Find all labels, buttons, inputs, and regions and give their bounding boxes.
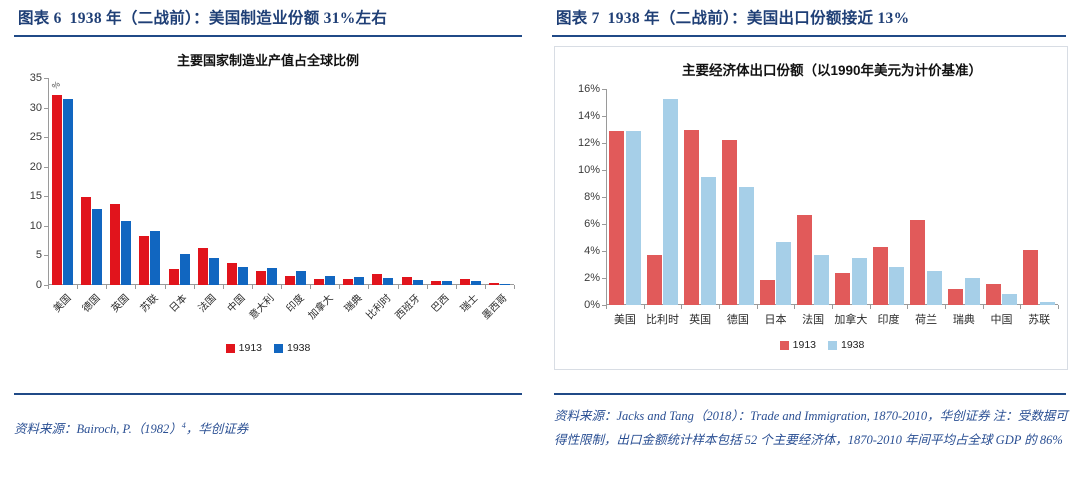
bar-1938 [663, 99, 678, 305]
bar-group [948, 89, 980, 305]
y-tick-mark [602, 116, 606, 117]
bar-1938 [1002, 294, 1017, 305]
bar-1913 [609, 131, 624, 305]
footnote-left-prefix: 资料来源：Bairoch, P.（1982） [14, 422, 182, 436]
bar-1938 [209, 258, 219, 285]
bar-1938 [500, 284, 510, 285]
legend-item-1938: 1938 [274, 342, 310, 354]
legend-swatch-1938 [828, 341, 837, 350]
bar-1913 [169, 269, 179, 285]
bar-group [722, 89, 754, 305]
bar-1913 [948, 289, 963, 305]
bar-1938 [442, 281, 452, 285]
legend-label-1913: 1913 [239, 342, 262, 354]
y-tick-mark [44, 78, 48, 79]
y-tick-mark [44, 196, 48, 197]
bar-1938 [383, 278, 393, 285]
bar-group [684, 89, 716, 305]
bar-1913 [227, 263, 237, 285]
bar-1913 [835, 273, 850, 305]
y-axis-line [606, 89, 607, 305]
bar-1913 [460, 279, 470, 285]
bar-1938 [325, 276, 335, 285]
exhibit-page: 图表61938 年（二战前）：美国制造业份额 31%左右 主要国家制造业产值占全… [0, 0, 1080, 496]
exhibit-6-number: 6 [54, 10, 62, 27]
bar-group [460, 78, 481, 285]
bar-group [343, 78, 364, 285]
legend-swatch-1913 [226, 344, 235, 353]
bar-1913 [52, 95, 62, 285]
bar-1913 [647, 255, 662, 305]
bar-1938 [471, 281, 481, 285]
y-tick-mark [602, 251, 606, 252]
x-tick-mark [514, 285, 515, 289]
y-tick-label: 2% [566, 272, 600, 284]
legend-label-1938: 1938 [287, 342, 310, 354]
bar-group [489, 78, 510, 285]
y-tick-label: 12% [566, 137, 600, 149]
bar-1913 [256, 271, 266, 285]
y-tick-label: 15 [22, 190, 42, 202]
bar-1913 [489, 283, 499, 285]
x-axis-label: 苏联 [1009, 311, 1069, 327]
bar-1938 [739, 187, 754, 305]
legend-item-1913: 1913 [780, 339, 816, 351]
panel-exhibit-6: 图表61938 年（二战前）：美国制造业份额 31%左右 主要国家制造业产值占全… [0, 0, 540, 496]
exhibit-6-title: 1938 年（二战前）：美国制造业份额 31%左右 [70, 10, 388, 27]
bar-group [81, 78, 102, 285]
exhibit-7-heading: 图表71938 年（二战前）：美国出口份额接近 13% [552, 0, 1066, 37]
y-tick-label: 6% [566, 218, 600, 230]
bar-1938 [92, 209, 102, 285]
y-tick-label: 4% [566, 245, 600, 257]
bar-1938 [965, 278, 980, 305]
y-tick-mark [44, 167, 48, 168]
bar-group [198, 78, 219, 285]
bar-1938 [814, 255, 829, 305]
bar-1913 [1023, 250, 1038, 305]
exhibit-7-number: 7 [592, 10, 600, 27]
bar-1938 [267, 268, 277, 285]
bar-1938 [701, 177, 716, 305]
bar-1913 [910, 220, 925, 305]
bar-1938 [238, 267, 248, 285]
bar-1913 [760, 280, 775, 305]
exhibit-7-label: 图表 [556, 10, 588, 27]
y-tick-mark [602, 278, 606, 279]
y-tick-label: 35 [22, 72, 42, 84]
bar-group [372, 78, 393, 285]
bar-1938 [150, 231, 160, 285]
footnote-right: 资料来源：Jacks and Tang（2018）：Trade and Immi… [554, 404, 1072, 453]
y-tick-label: 16% [566, 83, 600, 95]
bar-1938 [296, 271, 306, 285]
x-axis-labels-export: 美国比利时英国德国日本法国加拿大印度荷兰瑞典中国苏联 [606, 309, 1058, 333]
legend-swatch-1938 [274, 344, 283, 353]
bar-group [285, 78, 306, 285]
legend-item-1938: 1938 [828, 339, 864, 351]
bar-1913 [372, 274, 382, 285]
bar-1938 [776, 242, 791, 305]
footnote-left-suffix: ，华创证券 [186, 422, 249, 436]
bar-group [314, 78, 335, 285]
bar-1938 [1040, 302, 1055, 305]
bar-group [609, 89, 641, 305]
bar-1913 [873, 247, 888, 305]
y-tick-label: 10 [22, 220, 42, 232]
bar-1913 [139, 236, 149, 285]
bar-1913 [198, 248, 208, 285]
bar-1913 [797, 215, 812, 305]
y-tick-label: 25 [22, 131, 42, 143]
bar-group [760, 89, 792, 305]
plot-area-manufacturing: 05101520253035% [48, 78, 514, 285]
bar-group [227, 78, 248, 285]
y-tick-mark [44, 255, 48, 256]
footnote-divider-right [554, 393, 1066, 395]
bar-1938 [927, 271, 942, 305]
bar-1938 [889, 267, 904, 305]
y-axis-line [48, 78, 49, 285]
bar-group [873, 89, 905, 305]
bar-group [910, 89, 942, 305]
exhibit-6-heading: 图表61938 年（二战前）：美国制造业份额 31%左右 [14, 0, 522, 37]
x-tick-mark [1058, 305, 1059, 309]
bar-1913 [722, 140, 737, 305]
exhibit-6-label: 图表 [18, 10, 50, 27]
chart-manufacturing-share: 主要国家制造业产值占全球比例 05101520253035% 美国德国英国苏联日… [14, 50, 522, 355]
y-tick-mark [602, 224, 606, 225]
legend-label-1913: 1913 [793, 339, 816, 351]
bar-1913 [314, 279, 324, 285]
chart-export-share: 主要经济体出口份额（以1990年美元为计价基准） 0%2%4%6%8%10%12… [552, 59, 1066, 381]
y-tick-mark [44, 108, 48, 109]
bar-group [139, 78, 160, 285]
bar-1938 [413, 280, 423, 285]
bar-group [110, 78, 131, 285]
chart-title-manufacturing: 主要国家制造业产值占全球比例 [14, 50, 522, 69]
bar-group [835, 89, 867, 305]
bar-group [169, 78, 190, 285]
y-tick-mark [44, 226, 48, 227]
y-tick-mark [602, 170, 606, 171]
x-axis-labels-manufacturing: 美国德国英国苏联日本法国中国意大利印度加拿大瑞典比利时西班牙巴西瑞士墨西哥 [48, 288, 514, 338]
y-tick-label: 30 [22, 102, 42, 114]
footnote-divider-left [14, 393, 522, 395]
y-tick-mark [602, 197, 606, 198]
y-tick-mark [602, 143, 606, 144]
bar-group [797, 89, 829, 305]
bar-group [52, 78, 73, 285]
bar-1938 [354, 277, 364, 285]
chart-title-export: 主要经济体出口份额（以1990年美元为计价基准） [552, 59, 1066, 79]
bar-1938 [63, 99, 73, 285]
y-tick-mark [44, 137, 48, 138]
panel-exhibit-7: 图表71938 年（二战前）：美国出口份额接近 13% 主要经济体出口份额（以1… [540, 0, 1080, 496]
legend-item-1913: 1913 [226, 342, 262, 354]
y-tick-label: 5 [22, 249, 42, 261]
footnote-left: 资料来源：Bairoch, P.（1982）4，华创证券 [14, 418, 522, 441]
y-tick-label: 0 [22, 279, 42, 291]
bar-1913 [986, 284, 1001, 305]
y-tick-mark [602, 89, 606, 90]
bar-group [1023, 89, 1055, 305]
bar-1913 [402, 277, 412, 285]
bar-1913 [431, 281, 441, 285]
bar-1913 [343, 279, 353, 285]
bar-1913 [110, 204, 120, 285]
bar-1938 [121, 221, 131, 285]
y-tick-label: 8% [566, 191, 600, 203]
y-tick-label: 14% [566, 110, 600, 122]
bar-group [431, 78, 452, 285]
bar-group [986, 89, 1018, 305]
bar-1913 [81, 197, 91, 285]
legend-label-1938: 1938 [841, 339, 864, 351]
legend-export: 1913 1938 [566, 339, 1078, 351]
exhibit-7-title: 1938 年（二战前）：美国出口份额接近 13% [608, 10, 910, 27]
bar-group [256, 78, 277, 285]
bar-1938 [626, 131, 641, 305]
y-tick-label: 20 [22, 161, 42, 173]
bar-1938 [852, 258, 867, 305]
legend-swatch-1913 [780, 341, 789, 350]
y-tick-label: 10% [566, 164, 600, 176]
y-tick-label: 0% [566, 299, 600, 311]
bar-1938 [180, 254, 190, 285]
bar-1913 [684, 130, 699, 306]
plot-area-export: 0%2%4%6%8%10%12%14%16% [606, 89, 1058, 305]
bar-1913 [285, 276, 295, 285]
legend-manufacturing: 1913 1938 [14, 342, 522, 354]
bar-group [647, 89, 679, 305]
bar-group [402, 78, 423, 285]
